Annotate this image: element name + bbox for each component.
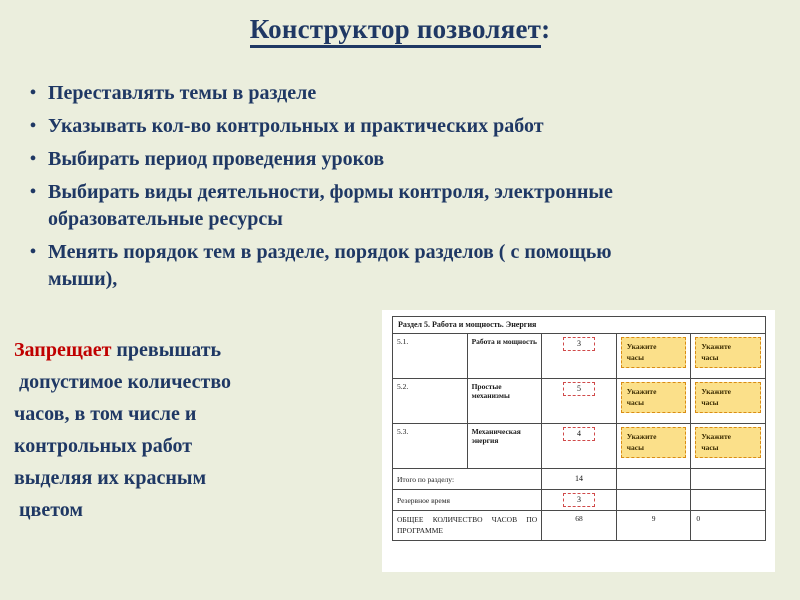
section-header-label: Раздел 5. Работа и мощность. Энергия — [393, 317, 766, 334]
restriction-statement: Запрещает превышать допустимое количеств… — [14, 334, 344, 526]
empty-cell — [691, 469, 766, 490]
list-item: • Выбирать виды деятельности, формы конт… — [18, 179, 678, 233]
grand-total-value-3: 0 — [691, 511, 766, 541]
enter-hours-field[interactable]: Укажите часы — [695, 337, 761, 368]
list-item: • Переставлять темы в разделе — [18, 80, 678, 107]
enter-hours-field[interactable]: Укажите часы — [695, 427, 761, 458]
table-row: 5.1. Работа и мощность 3 Укажите часы Ук… — [393, 334, 766, 379]
section-total-value: 14 — [563, 472, 595, 486]
enter-hours-field[interactable]: Укажите часы — [621, 427, 687, 458]
table-row: 5.3. Механическая энергия 4 Укажите часы… — [393, 424, 766, 469]
enter-hours-line-2: часы — [701, 352, 755, 363]
section-total-label: Итого по разделу: — [393, 469, 542, 490]
statement-line-1: Запрещает превышать — [14, 334, 344, 366]
topic-hours-cell[interactable]: 4 — [542, 424, 617, 469]
bullet-dot-icon: • — [18, 146, 48, 173]
enter-hours-line-1: Укажите — [701, 387, 731, 396]
topic-number: 5.1. — [393, 334, 468, 379]
enter-hours-field[interactable]: Укажите часы — [621, 382, 687, 413]
period-field-cell[interactable]: Укажите часы — [691, 424, 766, 469]
reserve-time-cell[interactable]: 3 — [542, 490, 617, 511]
table-row: 5.2. Простые механизмы 5 Укажите часы Ук… — [393, 379, 766, 424]
page-title: Конструктор позволяет: — [0, 14, 800, 45]
page-title-colon: : — [541, 14, 550, 44]
period-field-cell[interactable]: Укажите часы — [616, 379, 691, 424]
bullet-dot-icon: • — [18, 80, 48, 107]
grand-total-label: ОБЩЕЕ КОЛИЧЕСТВО ЧАСОВ ПО ПРОГРАММЕ — [393, 511, 542, 541]
statement-line-5: выделяя их красным — [14, 462, 344, 494]
section-total-row: Итого по разделу: 14 — [393, 469, 766, 490]
list-item: • Менять порядок тем в разделе, порядок … — [18, 239, 678, 293]
enter-hours-line-1: Укажите — [701, 342, 731, 351]
list-item-label: Выбирать виды деятельности, формы контро… — [48, 179, 678, 233]
grand-total-value-1: 68 — [542, 511, 617, 541]
empty-cell — [616, 490, 691, 511]
hours-value[interactable]: 5 — [563, 382, 595, 396]
list-item-label: Менять порядок тем в разделе, порядок ра… — [48, 239, 678, 293]
list-item: • Указывать кол-во контрольных и практич… — [18, 113, 678, 140]
table-section-header-row: Раздел 5. Работа и мощность. Энергия — [393, 317, 766, 334]
list-item-label: Выбирать период проведения уроков — [48, 146, 678, 173]
curriculum-plan-table: Раздел 5. Работа и мощность. Энергия 5.1… — [392, 316, 766, 541]
topic-name: Работа и мощность — [467, 334, 542, 379]
empty-cell — [691, 490, 766, 511]
grand-total-row: ОБЩЕЕ КОЛИЧЕСТВО ЧАСОВ ПО ПРОГРАММЕ 68 9… — [393, 511, 766, 541]
section-total-cell: 14 — [542, 469, 617, 490]
feature-bullet-list: • Переставлять темы в разделе • Указыват… — [18, 80, 678, 299]
empty-cell — [616, 469, 691, 490]
period-field-cell[interactable]: Укажите часы — [616, 424, 691, 469]
enter-hours-line-1: Укажите — [627, 432, 657, 441]
reserve-time-value[interactable]: 3 — [563, 493, 595, 507]
statement-line-4: контрольных работ — [14, 430, 344, 462]
bullet-dot-icon: • — [18, 113, 48, 140]
bullet-dot-icon: • — [18, 239, 48, 266]
topic-number: 5.2. — [393, 379, 468, 424]
enter-hours-line-1: Укажите — [627, 387, 657, 396]
enter-hours-line-2: часы — [627, 397, 681, 408]
grand-total-value-2: 9 — [616, 511, 691, 541]
topic-hours-cell[interactable]: 3 — [542, 334, 617, 379]
period-field-cell[interactable]: Укажите часы — [691, 334, 766, 379]
statement-line-6: цветом — [14, 494, 344, 526]
statement-highlight-word: Запрещает — [14, 339, 111, 361]
topic-name: Простые механизмы — [467, 379, 542, 424]
period-field-cell[interactable]: Укажите часы — [691, 379, 766, 424]
statement-line-3: часов, в том числе и — [14, 398, 344, 430]
list-item-label: Переставлять темы в разделе — [48, 80, 678, 107]
hours-value[interactable]: 4 — [563, 427, 595, 441]
statement-line-2: допустимое количество — [14, 366, 344, 398]
topic-number: 5.3. — [393, 424, 468, 469]
enter-hours-line-2: часы — [627, 442, 681, 453]
reserve-time-label: Резервное время — [393, 490, 542, 511]
bullet-dot-icon: • — [18, 179, 48, 206]
enter-hours-field[interactable]: Укажите часы — [695, 382, 761, 413]
enter-hours-field[interactable]: Укажите часы — [621, 337, 687, 368]
topic-hours-cell[interactable]: 5 — [542, 379, 617, 424]
enter-hours-line-2: часы — [627, 352, 681, 363]
reserve-time-row: Резервное время 3 — [393, 490, 766, 511]
page-title-text: Конструктор позволяет — [250, 14, 541, 48]
enter-hours-line-1: Укажите — [627, 342, 657, 351]
enter-hours-line-1: Укажите — [701, 432, 731, 441]
statement-line-1-rest: превышать — [111, 339, 221, 361]
curriculum-table-panel: Раздел 5. Работа и мощность. Энергия 5.1… — [382, 310, 775, 572]
hours-value[interactable]: 3 — [563, 337, 595, 351]
topic-name: Механическая энергия — [467, 424, 542, 469]
list-item: • Выбирать период проведения уроков — [18, 146, 678, 173]
enter-hours-line-2: часы — [701, 442, 755, 453]
period-field-cell[interactable]: Укажите часы — [616, 334, 691, 379]
list-item-label: Указывать кол-во контрольных и практичес… — [48, 113, 678, 140]
enter-hours-line-2: часы — [701, 397, 755, 408]
